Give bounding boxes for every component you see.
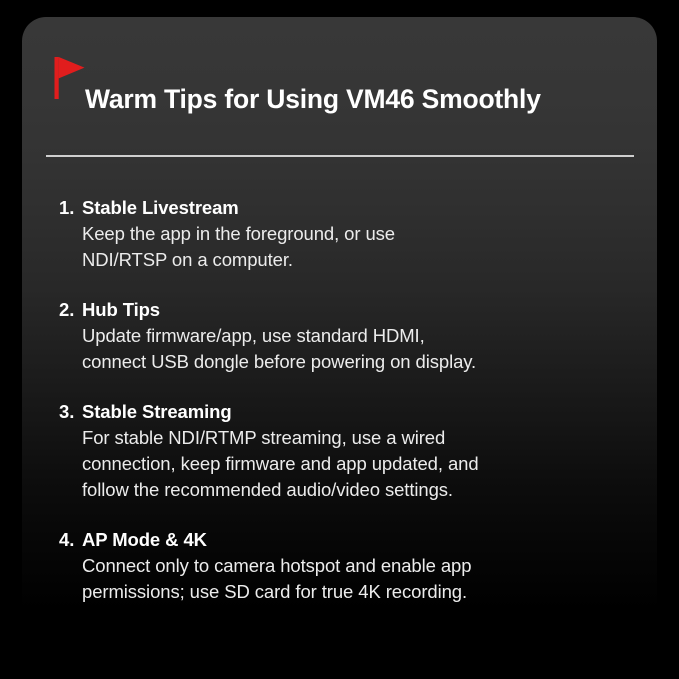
tip-number: 4. [59,529,81,551]
page-title: Warm Tips for Using VM46 Smoothly [85,84,541,115]
list-item: 1. Stable Livestream Keep the app in the… [22,197,657,273]
header-divider [46,155,634,157]
tip-heading: Hub Tips [82,299,160,321]
tip-heading-row: 3. Stable Streaming [82,401,657,423]
tip-heading-row: 1. Stable Livestream [82,197,657,219]
screenshot-root: Warm Tips for Using VM46 Smoothly 1. Sta… [0,0,679,679]
tip-heading: AP Mode & 4K [82,529,207,551]
tip-heading-row: 2. Hub Tips [82,299,657,321]
list-item: 4. AP Mode & 4K Connect only to camera h… [22,529,657,605]
list-item: 2. Hub Tips Update firmware/app, use sta… [22,299,657,375]
tip-number: 3. [59,401,81,423]
tips-list: 1. Stable Livestream Keep the app in the… [22,197,657,631]
tip-heading: Stable Streaming [82,401,232,423]
list-item: 3. Stable Streaming For stable NDI/RTMP … [22,401,657,503]
tip-number: 2. [59,299,81,321]
tip-body: Keep the app in the foreground, or use N… [82,221,657,273]
tip-heading-row: 4. AP Mode & 4K [82,529,657,551]
card-header: Warm Tips for Using VM46 Smoothly [22,17,657,165]
tip-number: 1. [59,197,81,219]
warm-tips-card: Warm Tips for Using VM46 Smoothly 1. Sta… [22,17,657,662]
tip-body: For stable NDI/RTMP streaming, use a wir… [82,425,657,503]
tip-body: Update firmware/app, use standard HDMI, … [82,323,657,375]
tip-body: Connect only to camera hotspot and enabl… [82,553,657,605]
tip-heading: Stable Livestream [82,197,239,219]
